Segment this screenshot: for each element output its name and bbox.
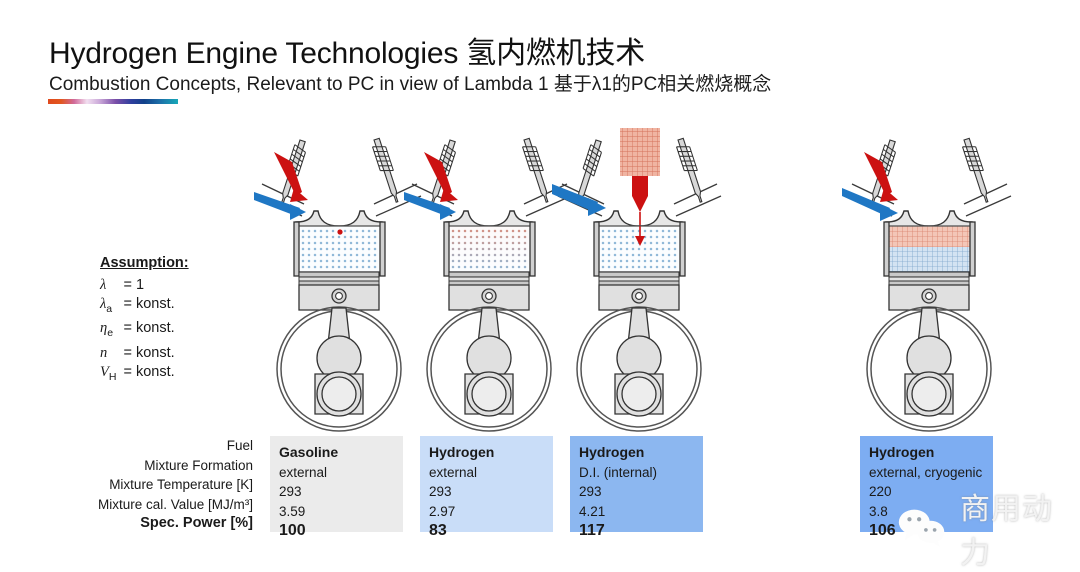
assumption-heading: Assumption: xyxy=(100,254,189,274)
assumption-value: = konst. xyxy=(123,363,174,387)
accent-bar xyxy=(48,99,178,104)
cell-fuel: Gasoline xyxy=(279,443,403,463)
engine-diagram-hydrogen-direct-injection xyxy=(552,126,727,436)
engine-diagram-gasoline-port-injection xyxy=(252,126,427,436)
assumption-row: ηe = konst. xyxy=(100,319,175,343)
row-label-mixture-cal-value: Mixture cal. Value [MJ/m³] xyxy=(98,495,253,515)
watermark-text: 商用动力 xyxy=(960,484,1080,572)
assumption-symbol: λa xyxy=(100,295,123,319)
assumption-row: VH = konst. xyxy=(100,363,175,387)
table-row-labels: Fuel Mixture Formation Mixture Temperatu… xyxy=(98,436,253,534)
assumption-symbol: VH xyxy=(100,363,123,387)
assumption-row: n = konst. xyxy=(100,344,175,364)
assumption-value: = konst. xyxy=(123,319,174,343)
cell-mixture-cal-value: 2.97 xyxy=(429,502,553,522)
cell-spec-power: 117 xyxy=(579,521,703,541)
intake-arrow-icon xyxy=(552,184,606,216)
assumption-symbol: ηe xyxy=(100,319,123,343)
cell-fuel: Hydrogen xyxy=(579,443,703,463)
cell-mixture-temperature: 293 xyxy=(579,482,703,502)
assumption-symbol: n xyxy=(100,344,123,364)
cell-mixture-cal-value: 4.21 xyxy=(579,502,703,522)
assumption-value: = 1 xyxy=(123,276,174,296)
row-label-mixture-temperature: Mixture Temperature [K] xyxy=(98,475,253,495)
assumption-block: Assumption: λ = 1 λa = konst. ηe = konst… xyxy=(100,254,189,388)
table-column-hydrogen-external: Hydrogen external 293 2.97 83 xyxy=(420,436,553,532)
page-subtitle: Combustion Concepts, Relevant to PC in v… xyxy=(49,69,771,96)
row-label-mixture-formation: Mixture Formation xyxy=(98,456,253,476)
cell-mixture-formation: external xyxy=(279,463,403,483)
engine-diagram-hydrogen-cryogenic xyxy=(842,126,1017,436)
cell-mixture-temperature: 293 xyxy=(279,482,403,502)
wechat-icon xyxy=(893,507,953,549)
cell-mixture-formation: D.I. (internal) xyxy=(579,463,703,483)
cell-mixture-cal-value: 3.59 xyxy=(279,502,403,522)
page-title: Hydrogen Engine Technologies 氢内燃机技术 xyxy=(49,28,645,72)
engine-diagram-hydrogen-port-injection xyxy=(402,126,577,436)
cell-spec-power: 100 xyxy=(279,521,403,541)
cell-fuel: Hydrogen xyxy=(869,443,993,463)
cell-fuel: Hydrogen xyxy=(429,443,553,463)
assumption-value: = konst. xyxy=(123,295,174,319)
assumption-row: λa = konst. xyxy=(100,295,175,319)
cell-mixture-temperature: 293 xyxy=(429,482,553,502)
slide: Hydrogen Engine Technologies 氢内燃机技术 Comb… xyxy=(0,0,1080,550)
cell-spec-power: 83 xyxy=(429,521,553,541)
table-column-hydrogen-di: Hydrogen D.I. (internal) 293 4.21 117 xyxy=(570,436,703,532)
direct-injection-block xyxy=(620,128,660,176)
table-column-gasoline: Gasoline external 293 3.59 100 xyxy=(270,436,403,532)
assumption-symbol: λ xyxy=(100,276,123,296)
row-label-fuel: Fuel xyxy=(98,436,253,456)
cell-mixture-formation: external xyxy=(429,463,553,483)
watermark: 商用动力 xyxy=(893,484,1080,572)
row-label-spec-power: Spec. Power [%] xyxy=(98,514,253,534)
assumption-row: λ = 1 xyxy=(100,276,175,296)
cell-mixture-formation: external, cryogenic xyxy=(869,463,993,483)
assumption-value: = konst. xyxy=(123,344,174,364)
